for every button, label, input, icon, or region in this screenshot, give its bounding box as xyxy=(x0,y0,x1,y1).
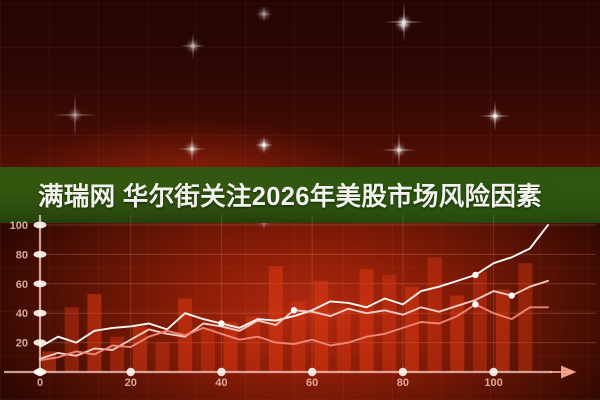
bar xyxy=(201,328,215,372)
x-axis-tick-label: 60 xyxy=(306,377,318,389)
data-point-marker xyxy=(291,307,297,313)
bar xyxy=(133,326,147,372)
bar xyxy=(518,263,532,372)
x-axis-tick-label: 20 xyxy=(125,377,137,389)
stock-chart: 20406080100020406080100 xyxy=(0,215,600,390)
screenshot-canvas: 满瑞网 华尔街关注2026年美股市场风险因素 20406080100020406… xyxy=(0,0,600,400)
y-axis-tick-dot xyxy=(34,339,47,346)
bar xyxy=(314,281,328,372)
y-axis-tick-dot xyxy=(34,310,47,317)
bar xyxy=(428,257,442,372)
x-axis-tick-label: 40 xyxy=(215,377,227,389)
data-point-marker xyxy=(509,292,515,298)
data-point-marker xyxy=(218,320,224,326)
bar xyxy=(382,275,396,372)
y-axis-tick-label: 60 xyxy=(16,279,28,291)
bar xyxy=(360,269,374,372)
x-axis-tick-dot xyxy=(127,368,135,376)
bar xyxy=(337,307,351,372)
y-axis-tick-dot xyxy=(34,222,47,229)
x-axis-tick-label: 80 xyxy=(397,377,409,389)
y-axis-tick-label: 20 xyxy=(16,338,28,350)
bar xyxy=(155,343,169,372)
bar xyxy=(405,287,419,372)
y-axis-tick-label: 100 xyxy=(10,220,28,232)
x-axis-tick-dot xyxy=(217,368,225,376)
y-axis-tick-dot xyxy=(34,251,47,258)
y-axis-tick-dot xyxy=(34,280,47,287)
page-title: 满瑞网 华尔街关注2026年美股市场风险因素 xyxy=(38,183,578,211)
bar xyxy=(496,290,510,372)
bar xyxy=(473,272,487,372)
x-axis-tick-label: 0 xyxy=(37,377,43,389)
data-point-marker xyxy=(472,301,478,307)
background-top-panel xyxy=(0,0,600,168)
x-axis-tick-dot xyxy=(36,368,44,376)
y-axis-tick-label: 40 xyxy=(16,308,28,320)
x-axis-arrow-icon xyxy=(550,367,574,377)
x-axis-tick-label: 100 xyxy=(484,377,502,389)
data-point-marker xyxy=(472,272,478,278)
y-axis-tick-label: 80 xyxy=(16,249,28,261)
x-axis-tick-dot xyxy=(308,368,316,376)
chart-svg: 20406080100020406080100 xyxy=(0,215,600,390)
x-axis-tick-dot xyxy=(489,368,497,376)
bar xyxy=(110,337,124,372)
x-axis-tick-dot xyxy=(399,368,407,376)
